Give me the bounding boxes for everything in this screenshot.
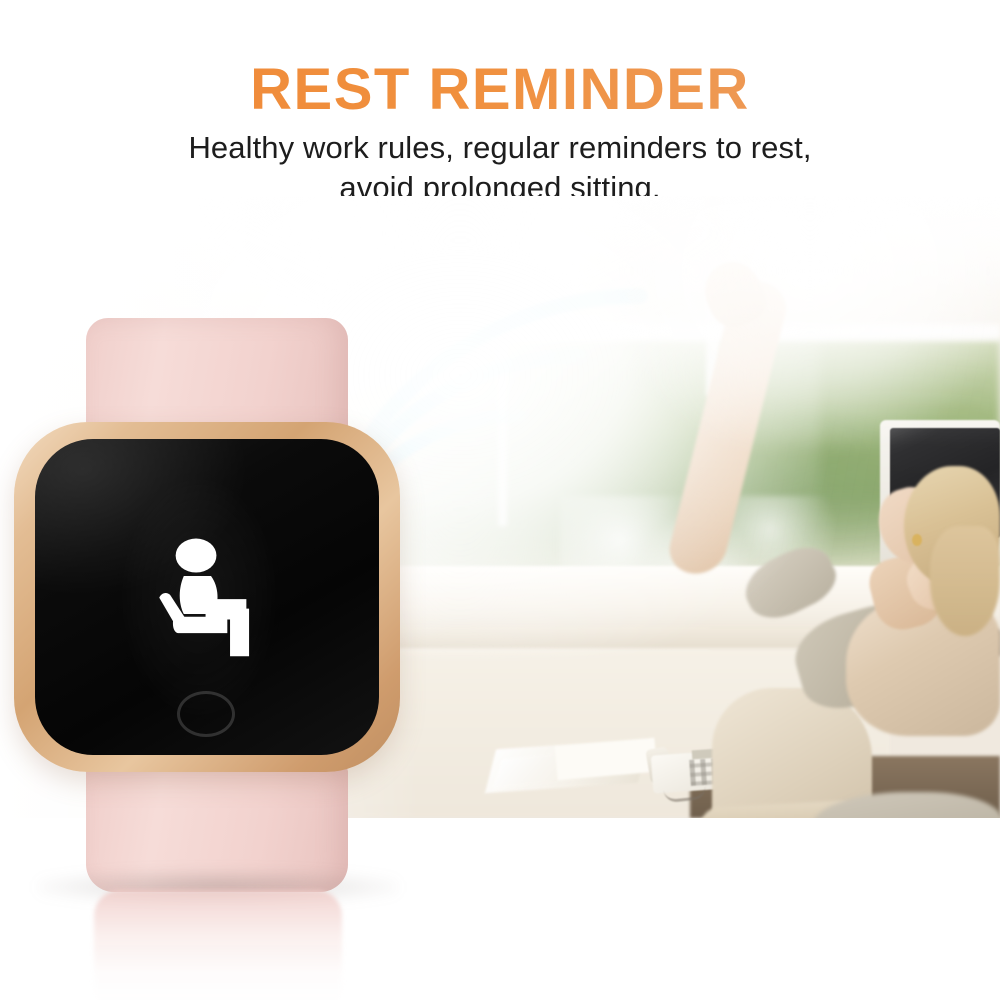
smartwatch xyxy=(8,318,408,878)
woman-earring xyxy=(912,534,922,546)
watch-reflection xyxy=(94,890,342,1000)
subtitle-line-1: Healthy work rules, regular reminders to… xyxy=(0,128,1000,168)
page-title: REST REMINDER xyxy=(0,60,1000,121)
sun-flare-secondary xyxy=(620,196,1000,446)
watch-home-button[interactable] xyxy=(177,691,235,737)
rest-reminder-poster: REST REMINDER Healthy work rules, regula… xyxy=(0,0,1000,1000)
woman-hair-bun xyxy=(930,526,1000,636)
watch-case xyxy=(14,422,400,772)
sedentary-reminder-icon xyxy=(143,527,279,663)
watch-screen[interactable] xyxy=(35,439,379,755)
